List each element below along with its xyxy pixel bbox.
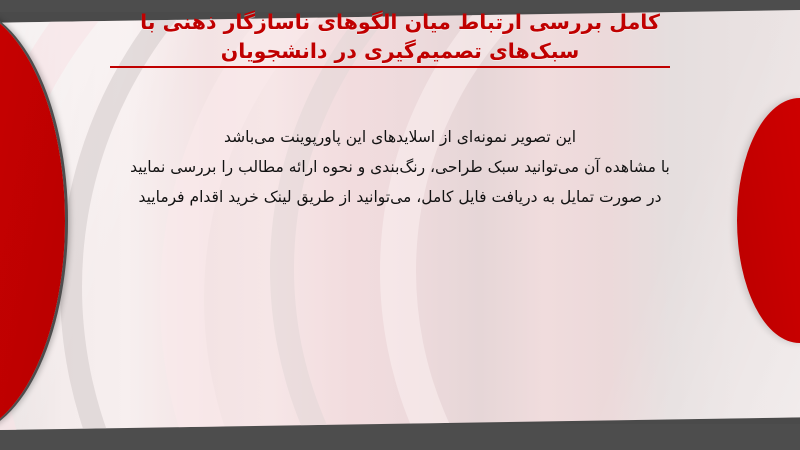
slide-body-line-3: در صورت تمایل به دریافت فایل کامل، می‌تو… [104, 182, 696, 212]
slide-title-line-2: سبک‌های تصمیم‌گیری در دانشجویان [112, 37, 688, 66]
slide-body-text: این تصویر نمونه‌ای از اسلایدهای این پاور… [104, 122, 696, 212]
title-underline-rule [110, 66, 670, 68]
slide-body-line-1: این تصویر نمونه‌ای از اسلایدهای این پاور… [104, 122, 696, 152]
slide-content: کامل بررسی ارتباط میان الگوهای ناسازگار … [0, 0, 800, 450]
slide-body-line-2: با مشاهده آن می‌توانید سبک طراحی، رنگ‌بن… [104, 152, 696, 182]
presentation-slide: کامل بررسی ارتباط میان الگوهای ناسازگار … [0, 0, 800, 450]
slide-title-line-1: کامل بررسی ارتباط میان الگوهای ناسازگار … [112, 8, 688, 37]
slide-title: کامل بررسی ارتباط میان الگوهای ناسازگار … [112, 8, 688, 66]
